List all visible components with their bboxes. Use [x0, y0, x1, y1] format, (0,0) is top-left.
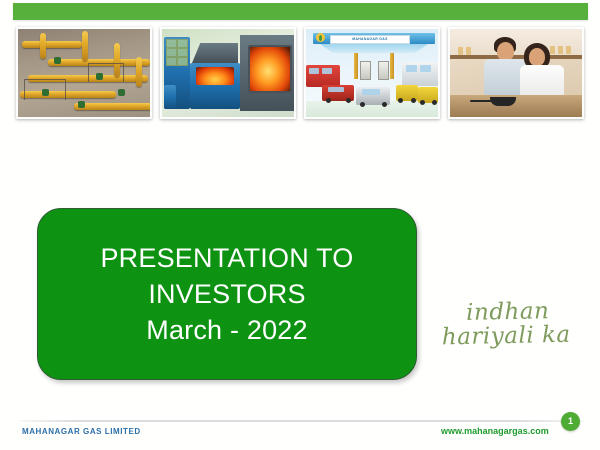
- mahanagar-gas-logo-icon: [316, 33, 325, 42]
- presentation-title-box: PRESENTATION TO INVESTORS March - 2022: [37, 208, 417, 380]
- tagline-line-2: hariyali ka: [439, 323, 573, 350]
- industrial-furnace-photo: [160, 27, 296, 119]
- domestic-kitchen-photo: [448, 27, 584, 119]
- title-line-3: March - 2022: [146, 312, 307, 348]
- station-sign-text: MAHANAGAR GAS: [330, 35, 410, 44]
- presentation-slide: MAHANAGAR GAS: [0, 0, 600, 450]
- industrial-pipeline-photo: [16, 27, 152, 119]
- brand-tagline: indhan hariyali ka: [443, 299, 574, 350]
- footer-company-name: MAHANAGAR GAS LIMITED: [22, 427, 141, 436]
- title-line-1: PRESENTATION TO: [100, 240, 353, 276]
- page-number-badge: 1: [561, 412, 580, 431]
- title-line-2: INVESTORS: [148, 276, 305, 312]
- cng-station-illustration: MAHANAGAR GAS: [304, 27, 440, 119]
- top-green-banner: [13, 3, 588, 20]
- footer-divider: [18, 420, 584, 422]
- thumbnail-strip: MAHANAGAR GAS: [16, 27, 584, 119]
- footer-website-link[interactable]: www.mahanagargas.com: [441, 426, 549, 436]
